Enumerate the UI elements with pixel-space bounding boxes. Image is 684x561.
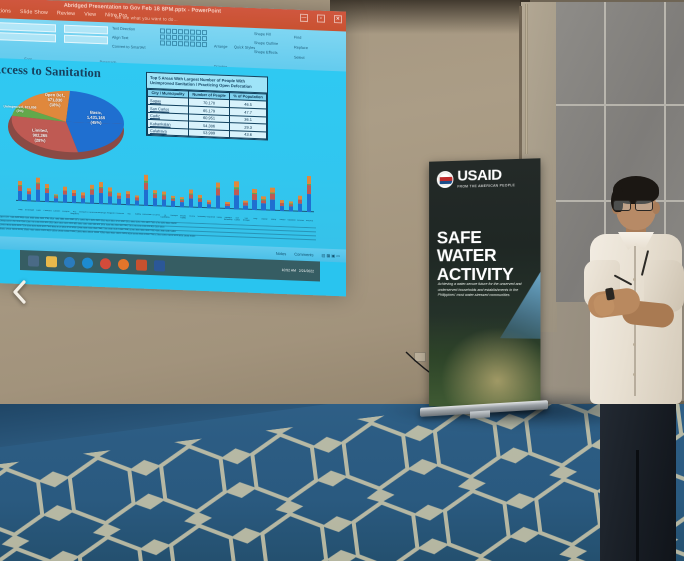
shirt-button (633, 343, 636, 346)
bar-category-label: Sipalay (260, 218, 269, 220)
bar-column (280, 200, 284, 211)
bar-category-label: Pontevedra (197, 216, 206, 218)
bar-segment (99, 193, 103, 204)
bar-column (270, 188, 274, 211)
bar-category-label: Salvador Benedicto (224, 217, 233, 222)
bar-column (261, 197, 265, 211)
banner-headline: SAFE WATER ACTIVITY (437, 228, 514, 284)
cell-people: 53,999 (188, 129, 229, 138)
bar-column (117, 193, 121, 205)
restore-icon[interactable]: ▫ (317, 14, 325, 22)
top5-table: Top 5 Areas With Largest Number of Peopl… (146, 72, 268, 141)
bar-column (198, 195, 202, 208)
bar-segment (117, 199, 121, 205)
eyeglasses-icon (613, 200, 661, 211)
cmd-arrange[interactable]: Arrange (214, 44, 228, 49)
bar-segment (198, 202, 202, 208)
chrome-icon[interactable] (100, 258, 111, 269)
cmd-shape-effects[interactable]: Shape Effects (254, 50, 278, 55)
bar-category-label: San Enrique (242, 218, 251, 223)
cmd-select[interactable]: Select (294, 56, 305, 60)
view-buttons[interactable]: ▤ ▦ ▣ ▭ (322, 253, 340, 259)
bar-segment (36, 190, 40, 202)
bar-column (307, 176, 311, 212)
panel-seam (556, 104, 684, 106)
bar-category-label: Moises Padilla (179, 215, 188, 220)
powerpoint-icon[interactable] (136, 259, 147, 270)
word-icon[interactable] (154, 260, 165, 271)
bar-column (252, 189, 256, 210)
bar-category-label: Bacolod (305, 220, 314, 222)
stacked-bar-chart (16, 163, 314, 222)
ribbon-group-editing[interactable]: Find Replace Select (290, 31, 344, 73)
room-scene: Abridged Presentation to Gov Feb 18 8PM.… (0, 0, 684, 561)
person-presenter (582, 168, 684, 561)
bar-column (225, 202, 229, 209)
bar-segment (63, 195, 67, 203)
bar-category-label: Pulupandan (206, 216, 215, 218)
bar-column (90, 185, 94, 204)
bar-category-label: Candoni (52, 210, 61, 212)
bar-column (36, 178, 40, 202)
bar-segment (216, 195, 220, 208)
bar-category-label: Ilog (124, 213, 133, 215)
bar-segment (280, 206, 284, 212)
bar-segment (234, 195, 238, 209)
headline-line-1: SAFE (437, 228, 514, 247)
cmd-shape-fill[interactable]: Shape Fill (254, 32, 271, 37)
pie-label-basic: Basic, 1,431,165 (45%) (74, 109, 118, 126)
usaid-seal-icon (437, 170, 454, 187)
bar-segment (307, 185, 311, 194)
bar-column (72, 190, 76, 203)
tray-time: 10:52 AM (282, 268, 296, 273)
rollup-banner: USAID FROM THE AMERICAN PEOPLE SAFE WATE… (429, 158, 540, 410)
bar-category-label: Murcia (188, 215, 197, 217)
notes-button[interactable]: Notes (276, 251, 286, 256)
bar-segment (18, 191, 22, 201)
ribbon-group-font[interactable]: Font (0, 20, 60, 62)
bar-segment (45, 193, 49, 202)
bar-category-label: Calatrava (43, 210, 52, 212)
bar-category-label: Toboso (278, 219, 287, 221)
powerpoint-window: Abridged Presentation to Gov Feb 18 8PM.… (0, 0, 346, 297)
task-view-icon[interactable] (28, 255, 39, 266)
window-controls[interactable]: — ▫ ✕ (300, 14, 342, 24)
bar-category-label: La Castellana (160, 214, 169, 219)
bar-category-label: Hinigaran (106, 212, 115, 214)
bar-column (135, 195, 139, 205)
bar-category-label: Sagay (215, 216, 224, 218)
bar-column (18, 181, 22, 202)
bar-column (27, 188, 31, 201)
bar-segment (27, 195, 31, 202)
bar-segment (270, 199, 274, 211)
bar-column (63, 187, 67, 203)
bar-column (289, 202, 293, 212)
pie-label-limited: Limited, 902,365 (28%) (18, 127, 62, 144)
close-icon[interactable]: ✕ (334, 15, 342, 23)
skype-icon[interactable] (82, 257, 93, 268)
person-leg-split (636, 450, 639, 561)
bar-segment (108, 196, 112, 205)
bar-column (243, 201, 247, 210)
bar-column (189, 190, 193, 208)
shirt-button (633, 373, 636, 376)
wall-shadow (330, 0, 530, 34)
headline-line-2: WATER (437, 246, 514, 265)
file-explorer-icon[interactable] (46, 255, 57, 266)
firefox-icon[interactable] (118, 258, 129, 269)
cell-municipality: Calatrava (148, 127, 189, 136)
bar-column (45, 184, 49, 202)
usaid-logo: USAID FROM THE AMERICAN PEOPLE (437, 167, 515, 189)
bar-category-label: San Carlos (233, 217, 242, 222)
wall-conduit (525, 4, 528, 154)
bar-category-label: Hinoba-an (115, 213, 124, 215)
bar-segment (225, 206, 229, 209)
pie-label-open-def: Open Def., 571,830 (18%) (34, 92, 76, 109)
bar-category-label: Bago (16, 209, 25, 211)
bar-segment (180, 202, 184, 207)
bar-segment (144, 183, 148, 191)
cmd-text-direction[interactable]: Text Direction (112, 27, 135, 32)
bar-segment (162, 199, 166, 207)
bar-category-label: Valladolid (287, 219, 296, 221)
bar-category-label: Victorias (296, 220, 305, 222)
banner-subtext: Achieving a water-secure future for the … (438, 282, 531, 299)
bar-category-label: Himamaylan (97, 212, 106, 214)
bar-category-label: E.B. Magalona (70, 211, 79, 216)
bar-category-label: Cauayan (61, 211, 70, 213)
bar-column (81, 193, 85, 204)
minimize-icon[interactable]: — (300, 14, 308, 22)
bar-column (54, 194, 58, 203)
bar-category-label: Silay (251, 218, 260, 220)
bar-segment (153, 198, 157, 206)
bar-column (216, 182, 220, 209)
bar-segment (189, 198, 193, 207)
cmd-convert-smartart[interactable]: Convert to SmartArt (112, 45, 146, 50)
bar-column (234, 182, 238, 210)
slide-title: Access to Sanitation (0, 62, 101, 81)
bar-column (99, 182, 103, 204)
bar-segment (289, 207, 293, 212)
chevron-left-icon (12, 280, 28, 304)
pie-chart: Basic, 1,431,165 (45%) Limited, 902,365 … (0, 82, 132, 165)
cell-percent: 43.6 (230, 130, 267, 139)
bar-segment (90, 194, 94, 203)
carousel-prev-button[interactable] (8, 278, 32, 306)
banner-foot (470, 410, 490, 418)
shirt-button (633, 278, 636, 281)
bar-segment (144, 190, 148, 206)
bar-column (144, 175, 148, 206)
bar-category-label: Kabankalan (142, 214, 151, 216)
usaid-tagline: FROM THE AMERICAN PEOPLE (457, 183, 515, 188)
slide-canvas[interactable]: Access to Sanitation B (0, 58, 346, 250)
bar-segment (126, 198, 130, 205)
cmd-shape-outline[interactable]: Shape Outline (254, 41, 278, 46)
bar-segment (307, 176, 311, 184)
cmd-replace[interactable]: Replace (294, 46, 308, 51)
bar-segment (54, 198, 58, 202)
bar-segment (252, 199, 256, 210)
bar-segment (307, 194, 311, 212)
cmd-align-text[interactable]: Align Text (112, 36, 128, 41)
projected-slide: Abridged Presentation to Gov Feb 18 8PM.… (0, 0, 346, 297)
system-tray[interactable]: 10:52 AM 2/21/2022 (282, 268, 314, 273)
bar-category-label: Escalante (88, 212, 97, 214)
usaid-wordmark: USAID (457, 167, 515, 184)
shapes-gallery[interactable] (160, 28, 207, 47)
bar-category-label: Isabela (133, 213, 142, 215)
bar-segment (72, 196, 76, 203)
cmd-quick-styles[interactable]: Quick Styles (234, 45, 255, 50)
tab-review[interactable]: Review (57, 10, 75, 17)
tab-view[interactable]: View (84, 11, 96, 17)
bar-column (162, 191, 166, 206)
bar-column (108, 188, 112, 205)
bar-segment (135, 200, 139, 205)
bar-segment (207, 204, 211, 208)
edge-icon[interactable] (64, 256, 75, 267)
bar-segment (261, 203, 265, 210)
bar-column (207, 200, 211, 208)
bar-column (298, 196, 302, 212)
bar-segment (171, 201, 175, 207)
tray-date: 2/21/2022 (299, 269, 314, 274)
bar-column (171, 195, 175, 207)
ribbon-group-paragraph[interactable]: Text Direction Align Text Convert to Sma… (62, 23, 154, 67)
comments-button[interactable]: Comments (294, 252, 313, 258)
tell-me-box[interactable]: Tell me what you want to do... (114, 15, 178, 22)
bar-category-label: Talisay (269, 219, 278, 221)
bar-column (180, 198, 184, 208)
bar-category-label: Binalbagan (25, 209, 34, 211)
headline-line-3: ACTIVITY (437, 265, 514, 284)
bar-category-label: Enrique B. (79, 211, 88, 213)
bar-segment (298, 204, 302, 212)
tab-animations[interactable]: ations (0, 8, 11, 15)
bar-category-label: La Carlota (151, 214, 160, 216)
cmd-find[interactable]: Find (294, 36, 301, 40)
bar-category-label: Manapla (170, 215, 179, 217)
bar-segment (81, 198, 85, 204)
tab-slide-show[interactable]: Slide Show (20, 9, 48, 16)
bar-category-label: Cadiz (34, 210, 43, 212)
bar-segment (243, 205, 247, 210)
bar-column (126, 191, 130, 206)
bar-column (153, 190, 157, 206)
